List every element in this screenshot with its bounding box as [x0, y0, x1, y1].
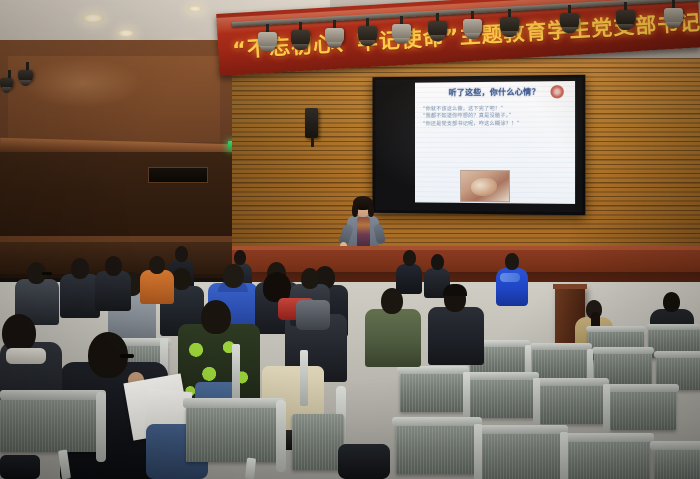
left-wall-sheen — [22, 58, 142, 108]
seat-empty[interactable] — [568, 440, 650, 479]
wall-speaker — [305, 108, 318, 138]
head — [431, 254, 444, 270]
seat-foreground[interactable] — [292, 414, 344, 470]
head — [201, 300, 231, 334]
scarf — [6, 348, 46, 364]
seat-empty[interactable] — [482, 432, 564, 479]
seat-divider — [603, 384, 610, 432]
seat-armrest — [96, 392, 106, 462]
beanie — [443, 284, 467, 296]
seat-top-rail — [397, 366, 469, 374]
head — [403, 250, 416, 266]
projection-screen: 听了这些，你什么心情？ “你就不该这么做，这下完了吧！” “我都不知道你咋想的？… — [372, 75, 585, 216]
seat-top-rail — [564, 433, 654, 442]
seat-armrest — [232, 344, 240, 400]
seat-top-rail — [467, 372, 539, 380]
seat-top-rail — [586, 326, 646, 332]
seat-divider — [474, 424, 482, 479]
podium-top — [553, 284, 587, 289]
lecture-hall-photo: “不忘初心、牢记使命”主题教育学生党支部书记第二轮学习 听了这些，你什么心情？ — [0, 0, 700, 479]
head — [234, 250, 246, 265]
grey-backpack — [296, 300, 330, 330]
seat-top-rail — [592, 347, 654, 354]
head — [663, 292, 680, 312]
seat-top-rail — [478, 425, 568, 434]
slide-surface: 听了这些，你什么心情？ “你就不该这么做，这下完了吧！” “我都不知道你咋想的？… — [415, 81, 575, 204]
jacket-pattern — [500, 273, 520, 282]
slide-seal-icon — [551, 85, 564, 98]
seat-top-rail — [392, 417, 482, 426]
downlight-2 — [188, 6, 202, 12]
seat-empty[interactable] — [610, 390, 676, 430]
seat-empty[interactable] — [532, 348, 590, 382]
speaker-mount — [311, 137, 314, 147]
seat-top-rail — [183, 398, 285, 408]
head — [381, 288, 403, 314]
presenter-hair-right — [368, 204, 374, 217]
seat-foreground[interactable] — [0, 398, 100, 452]
slide-bullets: “你就不该这么做，这下完了吧！” “我都不知道你咋想的？真是没脑子。” “你还是… — [423, 106, 543, 129]
seat-divider — [463, 372, 470, 420]
torso — [365, 309, 421, 367]
seat-armrest — [300, 350, 308, 406]
head — [223, 264, 244, 288]
head — [301, 268, 319, 289]
torso — [140, 270, 174, 304]
seat-divider — [560, 432, 568, 479]
seat-empty[interactable] — [654, 448, 700, 479]
head — [71, 258, 89, 279]
seat-divider — [533, 378, 540, 426]
seat-top-rail — [0, 390, 106, 400]
slide-photo — [460, 170, 510, 202]
torso — [60, 274, 100, 318]
glasses-icon — [120, 354, 134, 358]
backpack-on-floor — [338, 444, 390, 479]
seat-empty[interactable] — [540, 384, 606, 424]
stage-base-lip — [232, 246, 700, 250]
head — [175, 246, 188, 262]
torso — [396, 264, 422, 294]
slide-bullet-3: “你还是党支部书记呢，咋这么糊涂？！” — [423, 121, 543, 129]
presenter-hair-left — [352, 204, 358, 217]
downlight-3 — [118, 30, 134, 37]
glasses-icon — [42, 272, 52, 275]
front-table-top — [0, 236, 268, 242]
torso — [95, 271, 131, 311]
seat-top-rail — [530, 343, 592, 350]
slide-photo-subject — [471, 178, 497, 196]
seat-armrest — [276, 400, 286, 472]
head — [172, 268, 191, 290]
seat-foreground[interactable] — [186, 406, 282, 462]
bag-on-floor-left — [0, 455, 40, 479]
seat-empty[interactable] — [396, 424, 478, 474]
seat-top-rail — [650, 441, 700, 450]
seat-top-rail — [607, 384, 679, 392]
seat-top-rail — [654, 351, 700, 358]
downlight-1 — [82, 14, 104, 23]
presenter-scarf — [357, 217, 370, 249]
head — [2, 314, 36, 352]
seat-top-rail — [646, 324, 700, 330]
seat-empty[interactable] — [470, 378, 536, 418]
head — [505, 253, 519, 270]
head — [149, 256, 165, 274]
head — [105, 256, 122, 276]
wall-window — [148, 167, 208, 183]
torso — [428, 307, 484, 365]
seat-empty[interactable] — [400, 372, 466, 412]
seat-top-rail — [537, 378, 609, 386]
